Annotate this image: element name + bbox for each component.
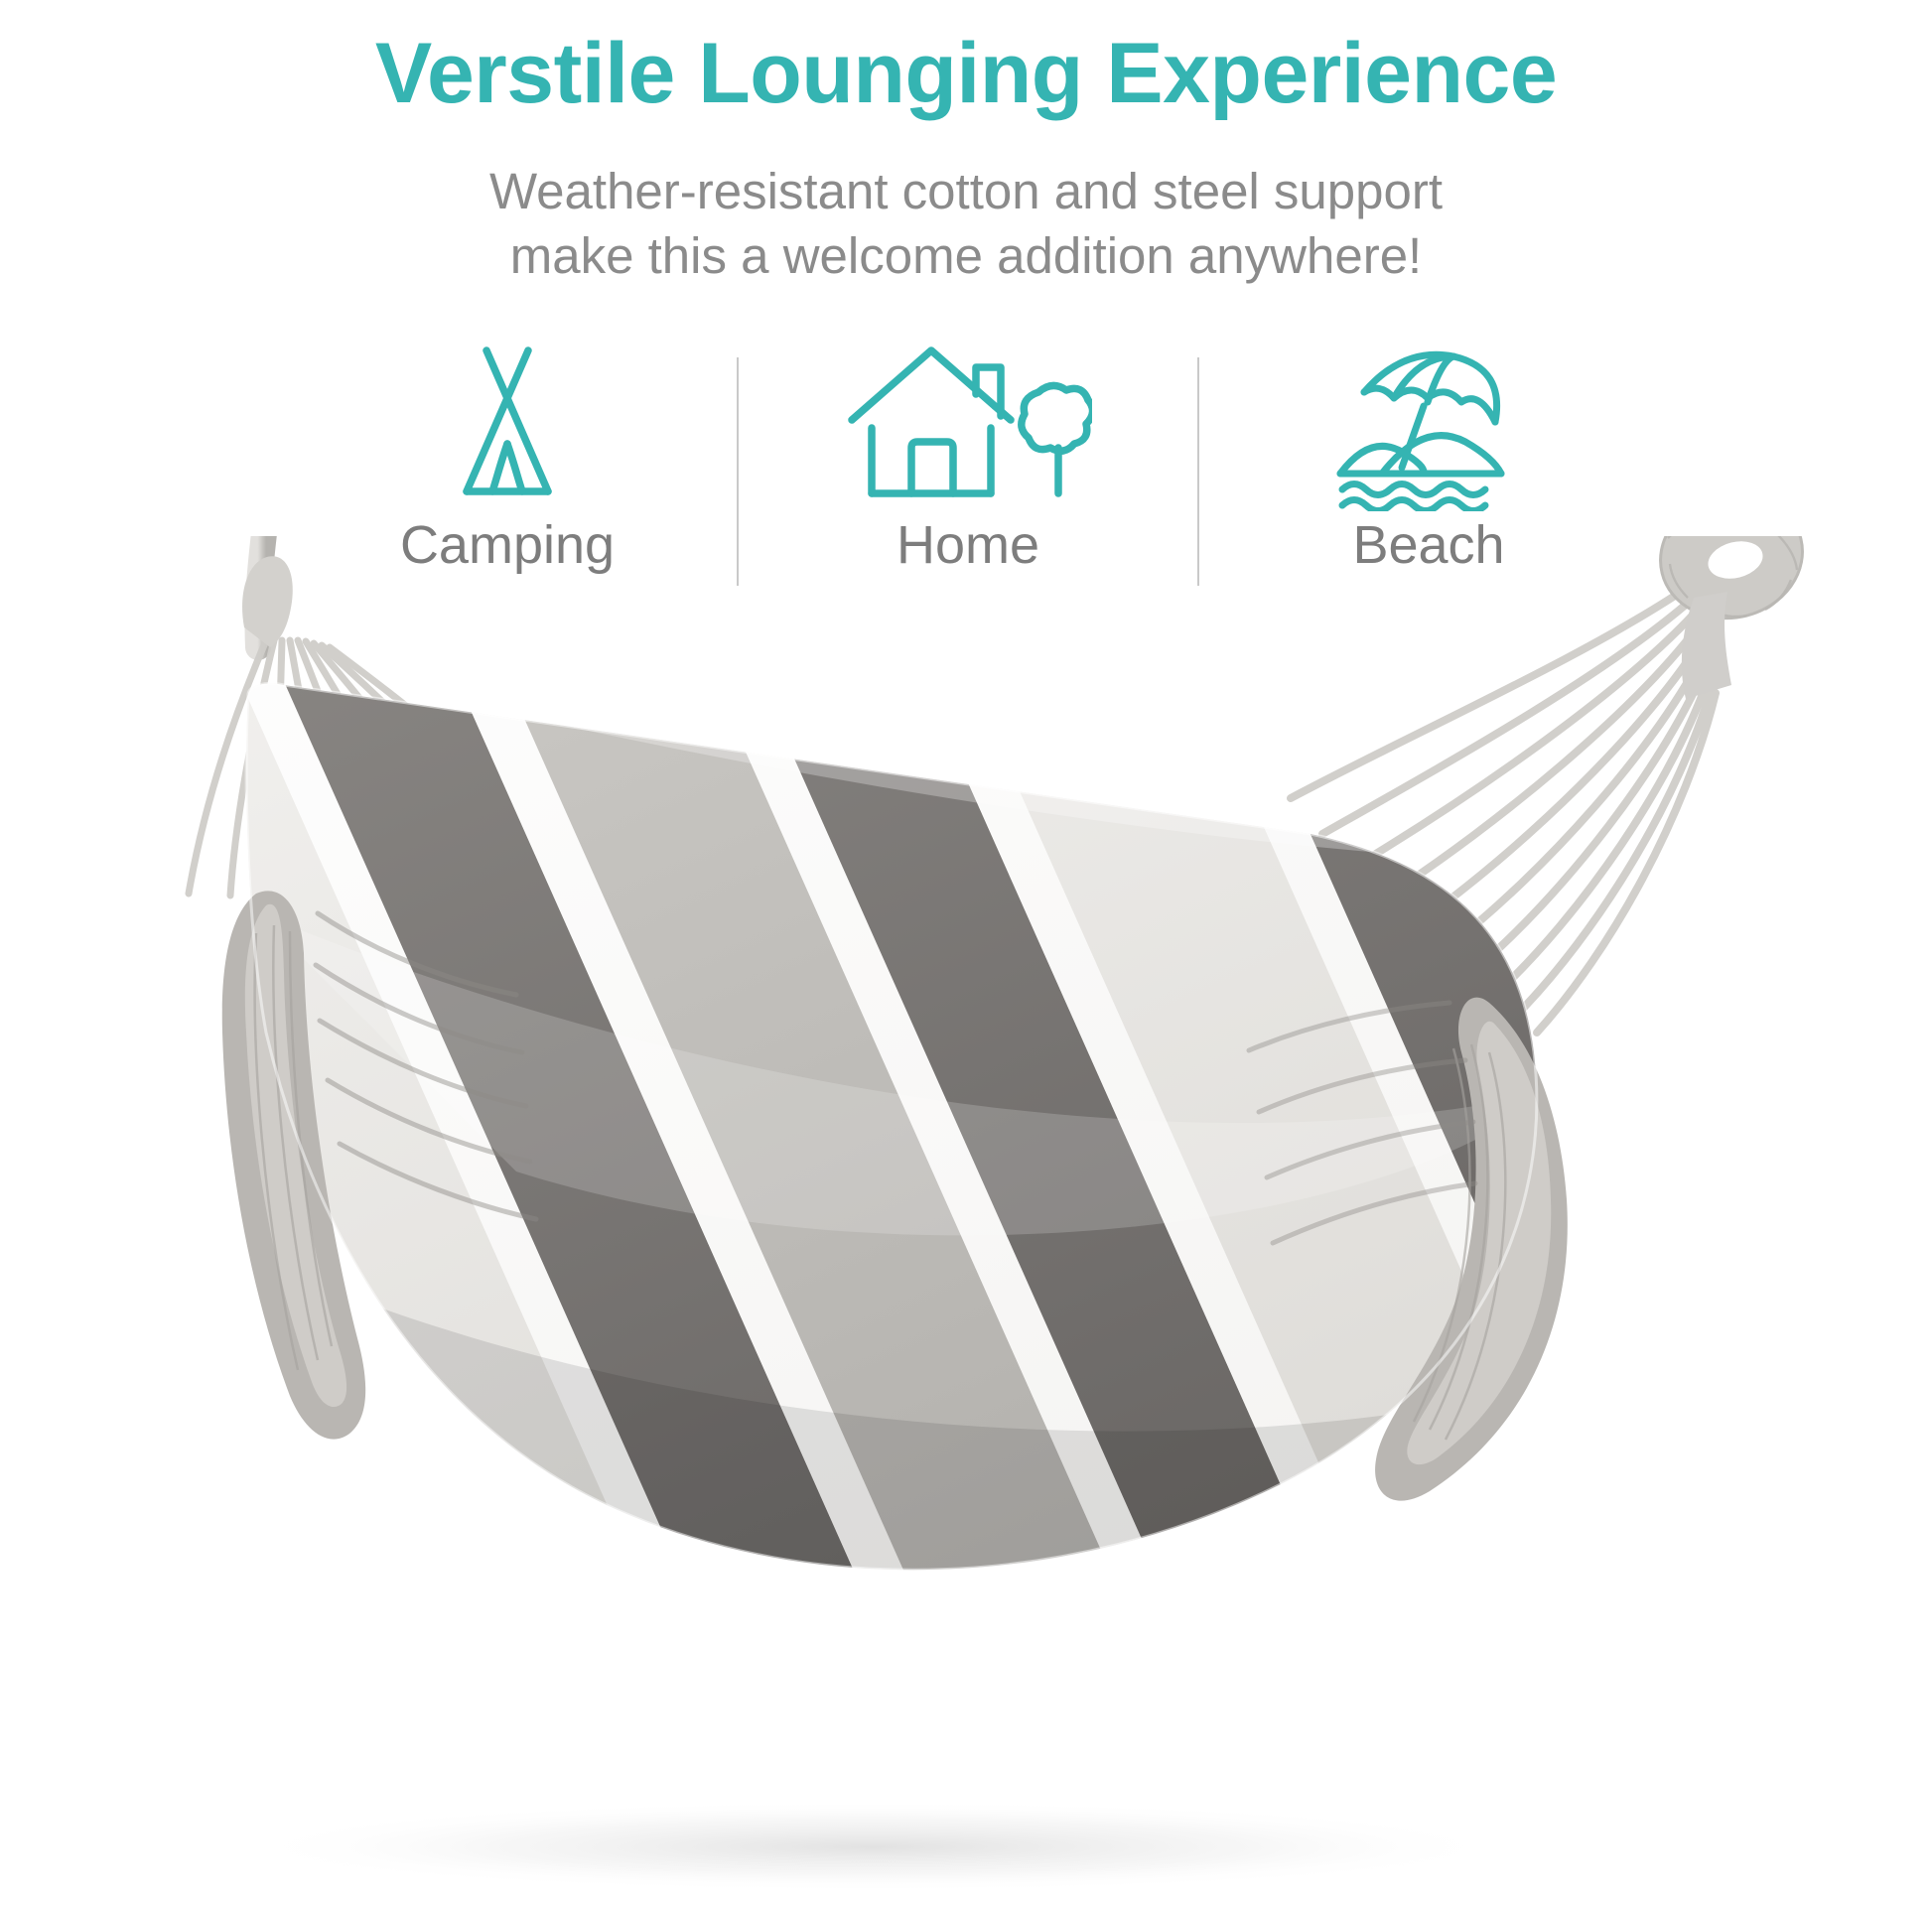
hammock-illustration — [0, 536, 1932, 1932]
product-feature-card: Verstile Lounging Experience Weather-res… — [0, 0, 1932, 1932]
page-title: Verstile Lounging Experience — [0, 26, 1932, 121]
house-with-tree-icon — [844, 328, 1092, 516]
subtitle-line-2: make this a welcome addition anywhere! — [0, 223, 1932, 288]
product-image — [0, 536, 1932, 1932]
beach-umbrella-icon — [1324, 328, 1533, 516]
product-shadow — [238, 1801, 1509, 1892]
teepee-tent-icon — [413, 328, 602, 516]
subtitle-line-1: Weather-resistant cotton and steel suppo… — [0, 159, 1932, 223]
page-subtitle: Weather-resistant cotton and steel suppo… — [0, 159, 1932, 289]
